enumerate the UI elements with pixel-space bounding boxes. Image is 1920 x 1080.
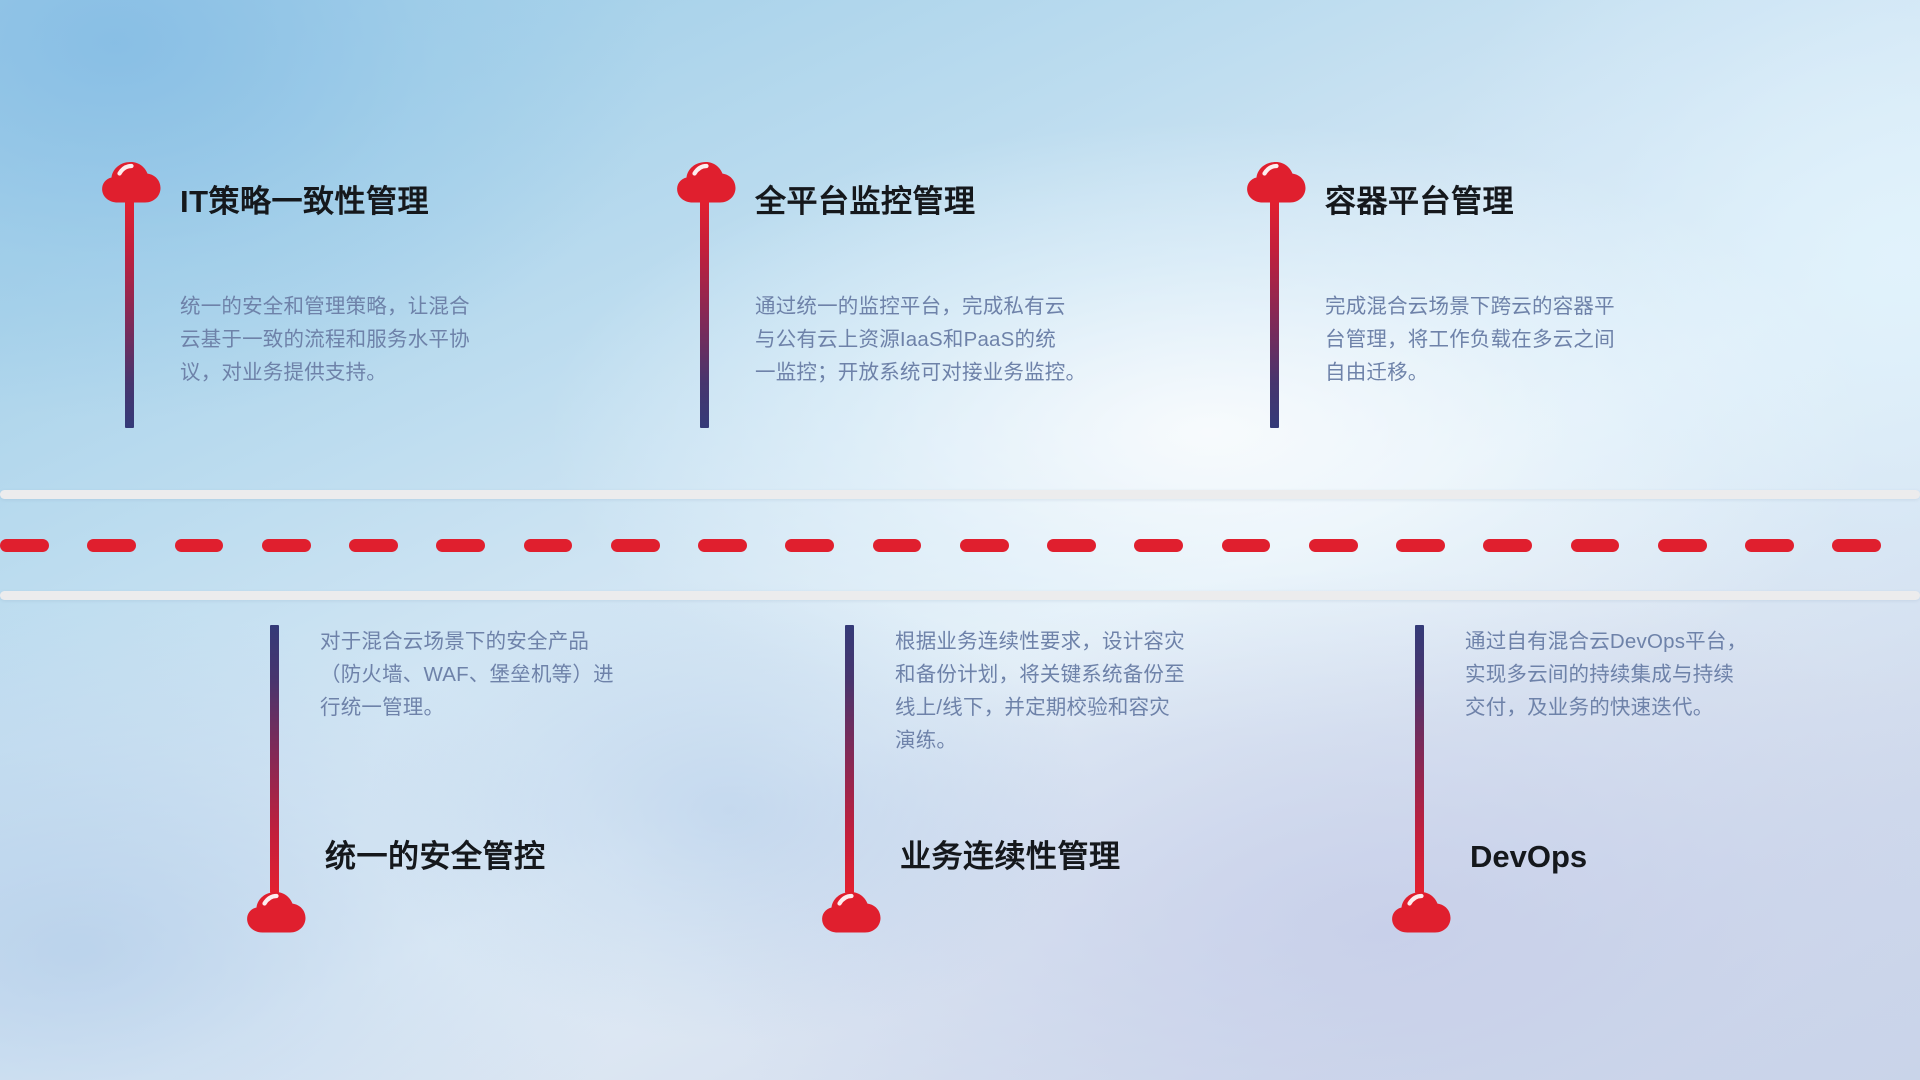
item-title: 全平台监控管理 [755,186,976,217]
road-dash-segment [1047,539,1096,552]
road-edge-bottom-line [0,591,1920,600]
road-dash-segment [349,539,398,552]
connector-stalk [269,625,281,893]
road-dash-segment [960,539,1009,552]
connector-stalk [844,625,856,893]
cloud-icon [1390,890,1452,936]
item-description: 统一的安全和管理策略，让混合 云基于一致的流程和服务水平协 议，对业务提供支持。 [180,290,560,389]
road-dash-segment [0,539,49,552]
road-dash-segment [175,539,224,552]
road-dash-segment [1832,539,1881,552]
item-description: 完成混合云场景下跨云的容器平 台管理，将工作负载在多云之间 自由迁移。 [1325,290,1705,389]
road-dash-segment [1134,539,1183,552]
road-dash-segment [1745,539,1794,552]
road-edge-top-line [0,490,1920,499]
road-dash-segment [611,539,660,552]
road-dash-segment [698,539,747,552]
item-title: IT策略一致性管理 [180,186,429,217]
road-dash-segment [1222,539,1271,552]
road-dash-segment [1483,539,1532,552]
item-title: 统一的安全管控 [325,841,546,872]
cloud-icon [820,890,882,936]
road-dashed-center-line [0,538,1920,552]
road-dash-segment [524,539,573,552]
road-dash-segment [785,539,834,552]
item-description: 通过自有混合云DevOps平台， 实现多云间的持续集成与持续 交付，及业务的快速… [1465,625,1845,724]
infographic-canvas: IT策略一致性管理 统一的安全和管理策略，让混合 云基于一致的流程和服务水平协 … [0,0,1920,1080]
connector-stalk [699,200,711,428]
connector-stalk [1414,625,1426,893]
connector-stalk [1269,200,1281,428]
road-divider [0,490,1920,600]
road-dash-segment [87,539,136,552]
item-description: 通过统一的监控平台，完成私有云 与公有云上资源IaaS和PaaS的统 一监控；开… [755,290,1147,389]
item-title: 容器平台管理 [1325,186,1514,217]
connector-stalk [124,200,136,428]
item-title: 业务连续性管理 [900,841,1121,872]
road-dash-segment [1658,539,1707,552]
road-dash-segment [436,539,485,552]
item-title: DevOps [1470,841,1587,872]
road-dash-segment [1396,539,1445,552]
item-description: 对于混合云场景下的安全产品 （防火墙、WAF、堡垒机等）进 行统一管理。 [320,625,700,724]
cloud-icon [245,890,307,936]
road-dash-segment [1309,539,1358,552]
road-dash-segment [1571,539,1620,552]
road-dash-segment [262,539,311,552]
item-description: 根据业务连续性要求，设计容灾 和备份计划，将关键系统备份至 线上/线下，并定期校… [895,625,1275,757]
road-dash-segment [873,539,922,552]
